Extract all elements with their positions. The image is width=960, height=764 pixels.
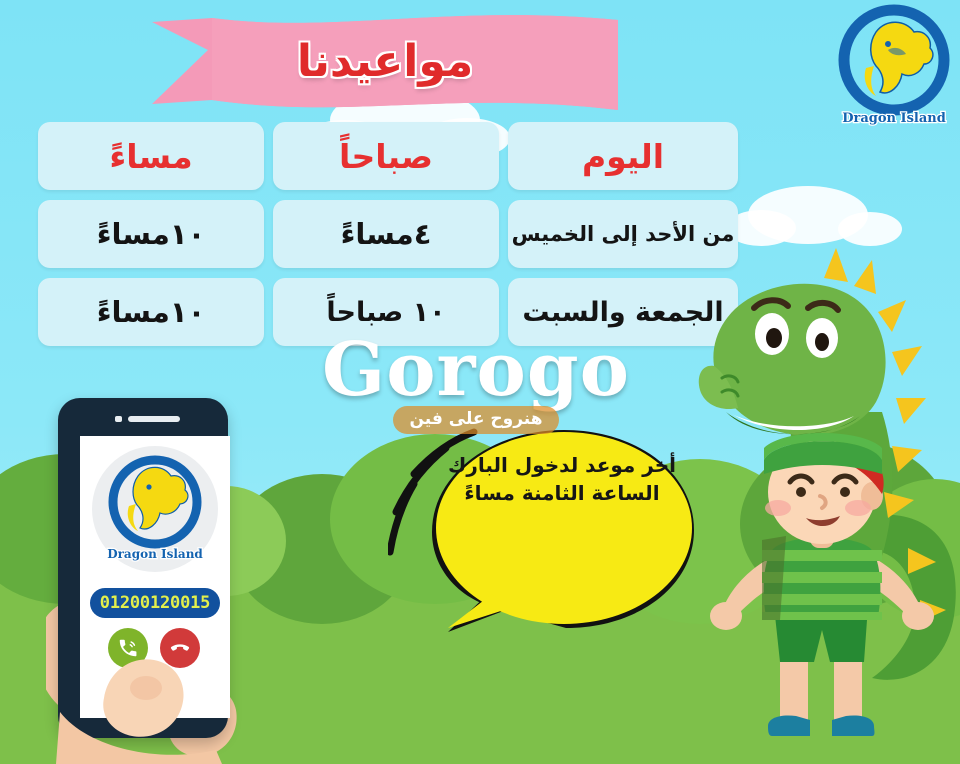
- table-header-row: اليوم صباحاً مساءً: [38, 122, 738, 190]
- schedule-table: اليوم صباحاً مساءً من الأحد إلى الخميس ٤…: [38, 122, 738, 346]
- boy-character: [702, 430, 942, 760]
- brand-logo-caption: Dragon Island: [842, 111, 946, 126]
- poster-canvas: Dragon Island مواعيدنا اليوم صباحاً مساء…: [0, 0, 960, 764]
- watermark-tagline: هنروح على فين: [393, 406, 558, 434]
- title-ribbon: مواعيدنا: [152, 12, 618, 116]
- cell-morning: ٤مساءً: [273, 200, 499, 268]
- header-cell-morning: صباحاً: [273, 122, 499, 190]
- page-title: مواعيدنا: [152, 12, 618, 116]
- notice-line-1: أخر موعد لدخول البارك: [416, 452, 708, 480]
- cell-evening: ١٠مساءً: [38, 278, 264, 346]
- thumb-illustration: [46, 398, 246, 764]
- brand-logo: Dragon Island: [836, 4, 952, 130]
- notice-text: أخر موعد لدخول البارك الساعة الثامنة مسا…: [416, 452, 708, 507]
- watermark: Gorogo هنروح على فين: [302, 336, 650, 434]
- phone-in-hand: Dragon Island 01200120015: [46, 398, 246, 764]
- header-cell-evening: مساءً: [38, 122, 264, 190]
- header-cell-day: اليوم: [508, 122, 738, 190]
- notice-line-2: الساعة الثامنة مساءً: [416, 480, 708, 508]
- cell-evening: ١٠مساءً: [38, 200, 264, 268]
- table-row: من الأحد إلى الخميس ٤مساءً ١٠مساءً: [38, 200, 738, 268]
- watermark-word: Gorogo: [302, 336, 650, 404]
